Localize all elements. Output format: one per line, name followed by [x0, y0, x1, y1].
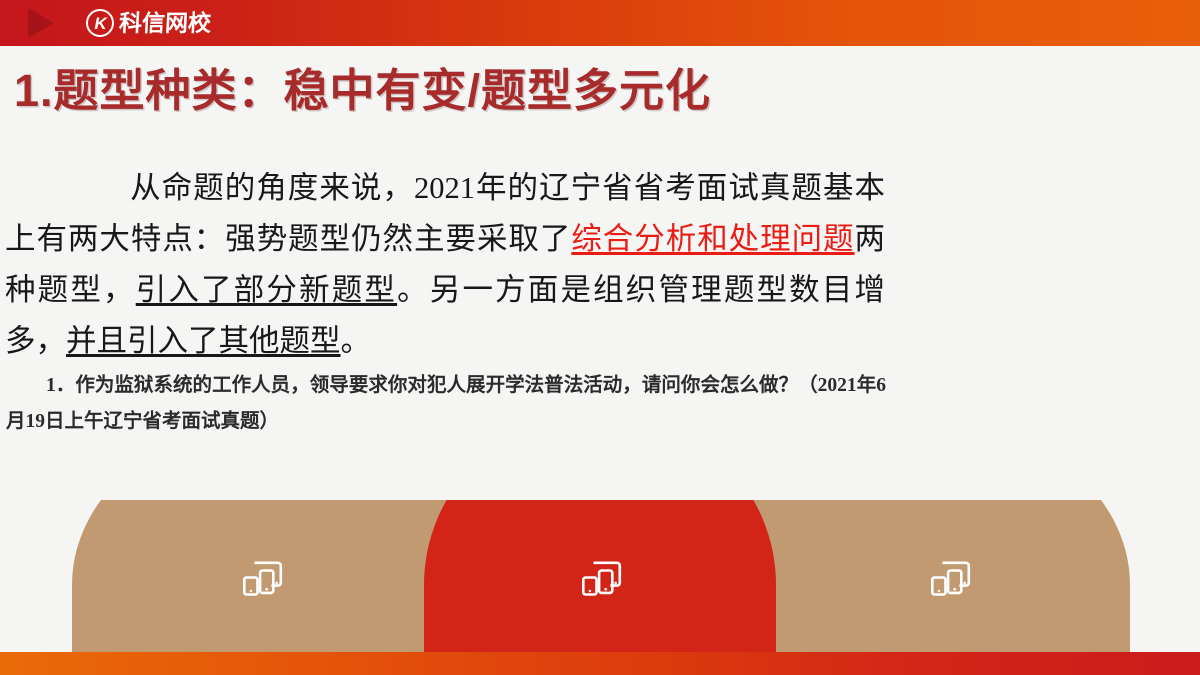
page-title: 1.题型种类：稳中有变/题型多元化	[14, 62, 1114, 120]
body-segment-6: 。	[341, 324, 372, 358]
play-triangle-icon	[28, 8, 54, 38]
brand-logo: K 科信网校	[86, 7, 211, 39]
logo-k-emblem-icon: K	[86, 9, 114, 37]
logo-wordmark: 科信网校	[118, 9, 211, 37]
decorative-domes	[0, 500, 1200, 652]
example-question-block: 1．作为监狱系统的工作人员，领导要求你对犯人展开学法普法活动，请问你会怎么做？（…	[6, 368, 886, 440]
devices-icon-right	[926, 558, 972, 600]
body-paragraph: 从命题的角度来说，2021年的辽宁省省考面试真题基本上有两大特点：强势题型仍然主…	[5, 163, 885, 367]
body-segment-5-underline: 并且引入了其他题型	[66, 324, 341, 358]
logo-k-letter: K	[86, 9, 114, 37]
devices-icon-center	[577, 558, 623, 600]
devices-icon-left	[238, 558, 284, 600]
body-text-block: 从命题的角度来说，2021年的辽宁省省考面试真题基本上有两大特点：强势题型仍然主…	[5, 163, 885, 367]
footer-bar	[0, 652, 1200, 675]
header-bar: K 科信网校	[0, 0, 1200, 46]
body-segment-1-highlight-red: 综合分析和处理问题	[571, 222, 854, 256]
slide-canvas: K 科信网校 1.题型种类：稳中有变/题型多元化 从命题的角度来说，2021年的…	[0, 0, 1200, 675]
body-segment-3-underline: 引入了部分新题型	[136, 273, 397, 307]
example-question-text: 1．作为监狱系统的工作人员，领导要求你对犯人展开学法普法活动，请问你会怎么做？（…	[6, 368, 886, 440]
